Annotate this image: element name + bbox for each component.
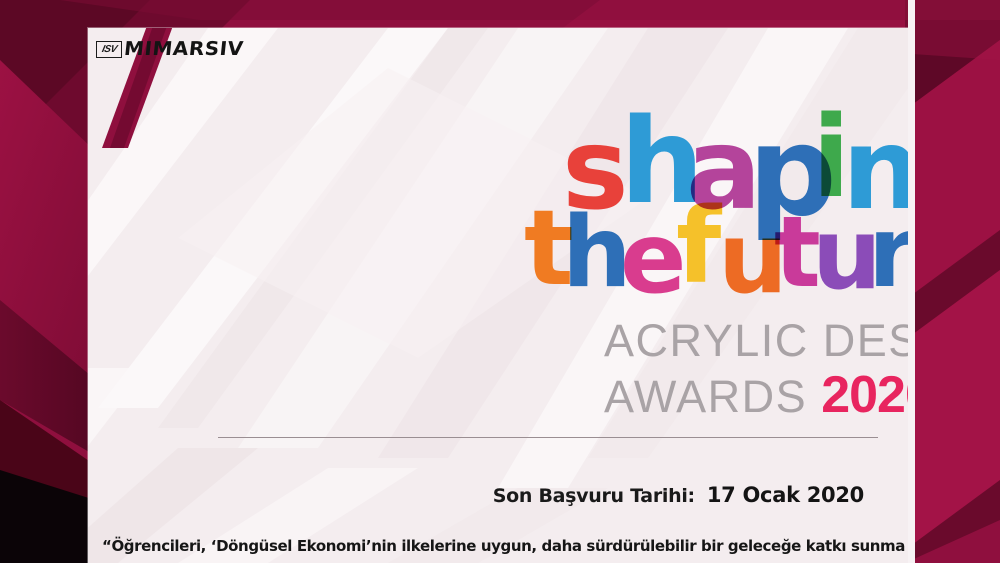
future-letter-f-3: f	[676, 194, 721, 298]
awards-year: 2020	[821, 368, 908, 422]
deadline-label: Son Başvuru Tarihi:	[493, 485, 695, 507]
poster-card: ISV MIMARSIV shaping thefuture ACRYLIC D…	[88, 28, 908, 563]
card-right-margin	[908, 0, 915, 563]
awards-line-2: AWARDS	[604, 370, 807, 424]
brand-logo-wordmark: MIMARSIV	[123, 38, 245, 60]
brand-logo-mark-text: ISV	[101, 44, 118, 55]
future-letter-r-7: r	[868, 204, 908, 302]
deadline-block: Son Başvuru Tarihi: 17 Ocak 2020	[88, 483, 888, 507]
section-divider	[218, 437, 878, 438]
awards-line-1: ACRYLIC DESIGN	[604, 314, 908, 368]
awards-line-2-row: AWARDS 2020	[604, 368, 908, 424]
quote-block: “Öğrencileri, ‘Döngüsel Ekonomi’nin ilke…	[88, 533, 908, 563]
brand-logo: ISV MIMARSIV	[96, 38, 241, 60]
deadline-date: 17 Ocak 2020	[707, 483, 864, 507]
awards-block: ACRYLIC DESIGN AWARDS 2020 TURKEY	[604, 314, 908, 424]
quote-line-1: “Öğrencileri, ‘Döngüsel Ekonomi’nin ilke…	[102, 533, 894, 560]
brand-logo-mark-icon: ISV	[96, 41, 122, 58]
